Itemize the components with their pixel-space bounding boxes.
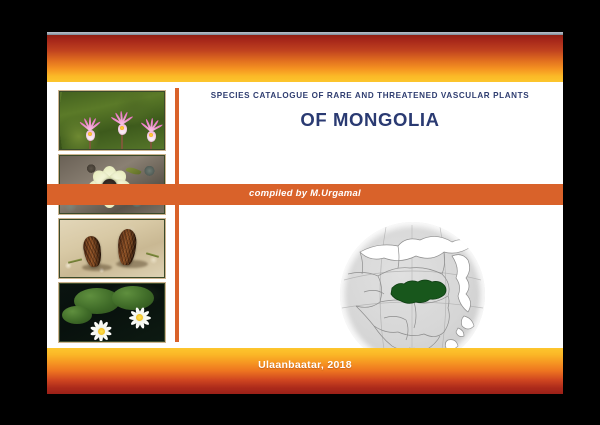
compiled-by-text: compiled by M.Urgamal: [47, 188, 563, 199]
photo-brown-cone-plants: [58, 218, 166, 279]
photo-strip: [58, 90, 166, 343]
compiled-by-band: compiled by M.Urgamal: [47, 184, 563, 205]
page-top-edge: [47, 32, 563, 35]
photo-pink-orchid-flowers: [58, 90, 166, 151]
catalogue-title-line1: SPECIES CATALOGUE OF RARE AND THREATENED…: [187, 90, 553, 102]
photo-white-water-lilies: [58, 282, 166, 343]
bottom-gradient-band: Ulaanbaatar, 2018: [47, 348, 563, 394]
vertical-rule: [175, 88, 179, 342]
book-cover-page: SPECIES CATALOGUE OF RARE AND THREATENED…: [47, 32, 563, 394]
footer-place-year: Ulaanbaatar, 2018: [47, 359, 563, 371]
cover-content: SPECIES CATALOGUE OF RARE AND THREATENED…: [47, 82, 563, 348]
title-block: SPECIES CATALOGUE OF RARE AND THREATENED…: [187, 90, 553, 130]
globe-icon: [340, 222, 485, 367]
globe-map-svg: [340, 222, 485, 367]
top-gradient-band: [47, 35, 563, 82]
mongolia-shape: [391, 280, 446, 303]
catalogue-title-line2: OF MONGOLIA: [187, 109, 553, 130]
screenshot-canvas: SPECIES CATALOGUE OF RARE AND THREATENED…: [0, 0, 600, 425]
